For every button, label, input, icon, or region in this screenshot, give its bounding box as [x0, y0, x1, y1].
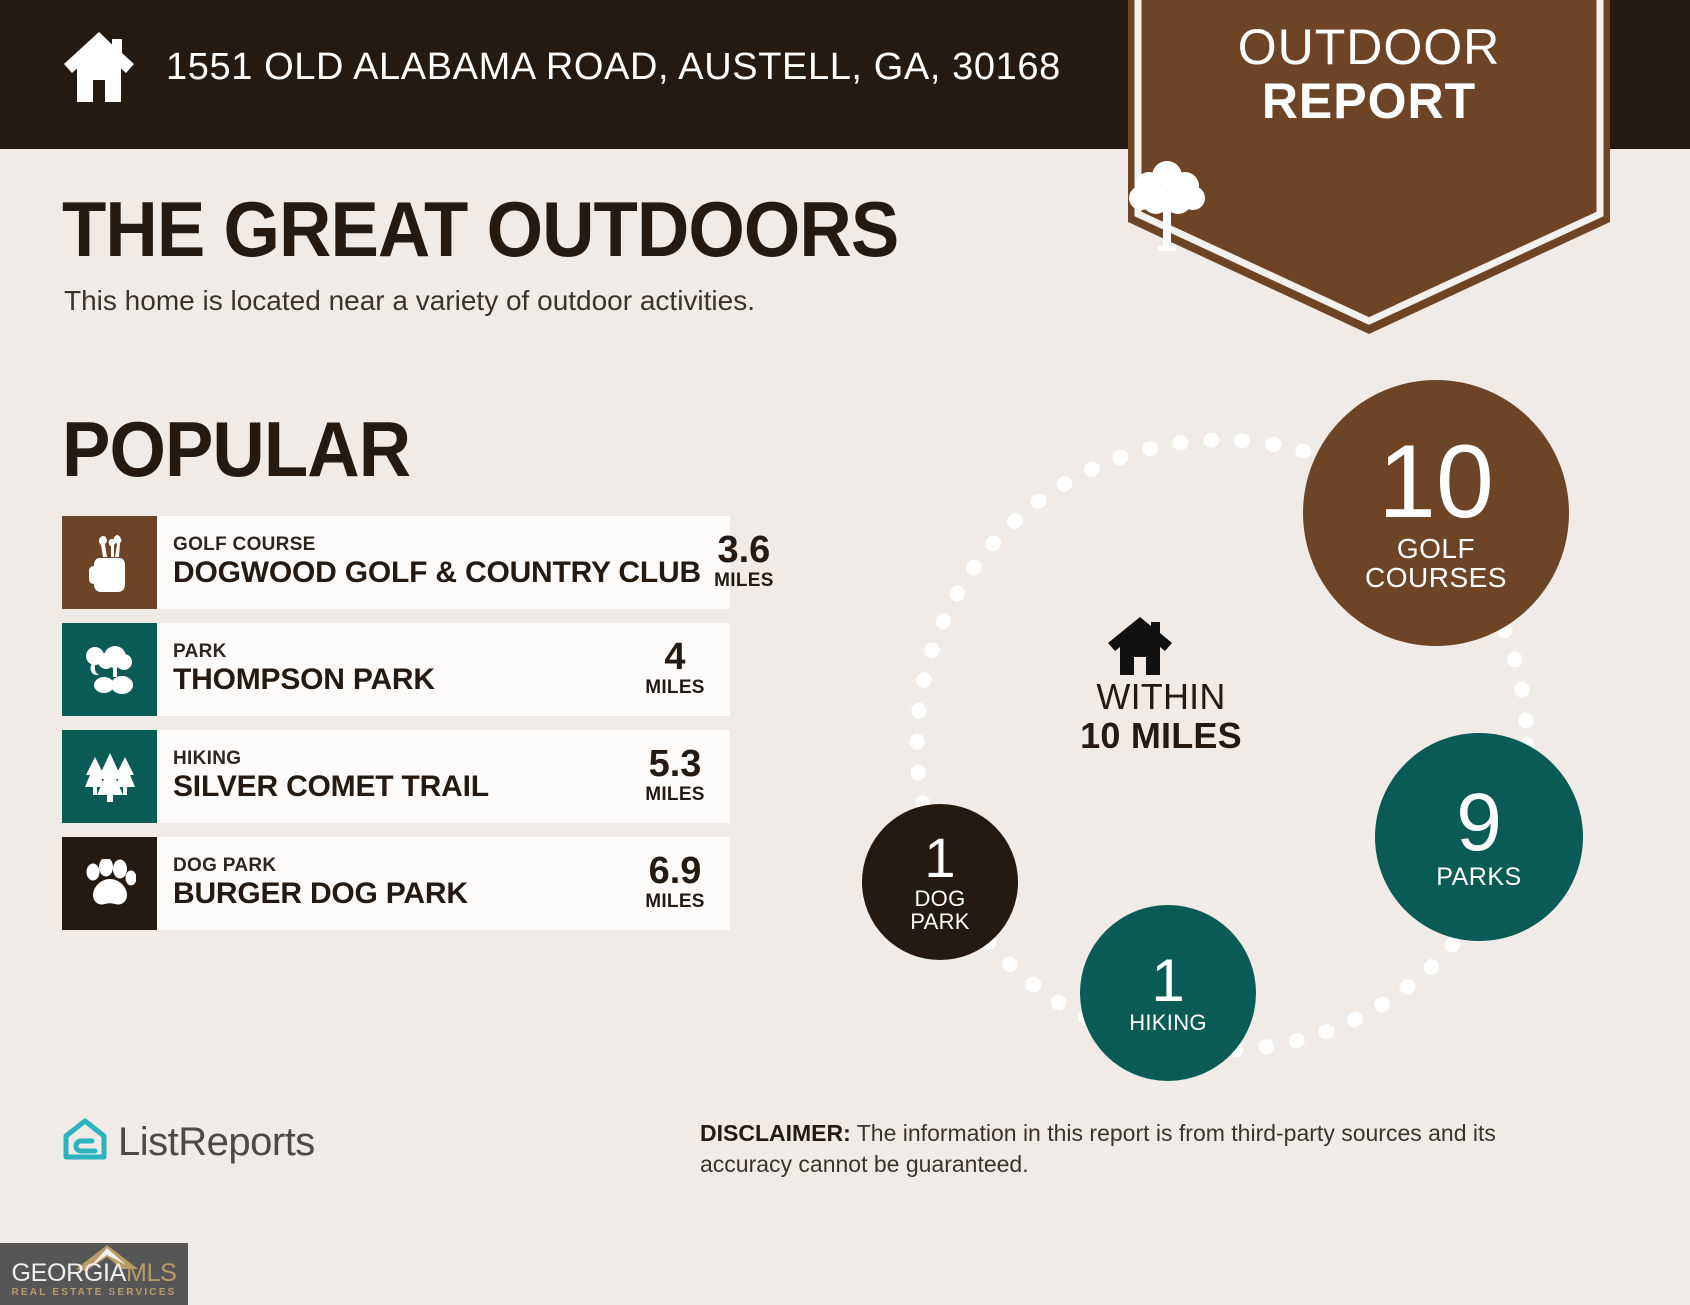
distance-value: 6.9	[649, 852, 702, 890]
distance-unit: MILES	[645, 676, 705, 701]
listreports-house-icon	[62, 1117, 108, 1166]
paw-print-icon	[62, 837, 157, 930]
golf-bag-icon	[62, 516, 157, 609]
list-item-name: BURGER DOG PARK	[173, 877, 468, 912]
distance-unit: MILES	[645, 783, 705, 808]
list-item-body: GOLF COURSE DOGWOOD GOLF & COUNTRY CLUB …	[157, 516, 799, 609]
disclaimer: DISCLAIMER: The information in this repo…	[700, 1118, 1530, 1180]
list-item-category: DOG PARK	[173, 855, 468, 877]
bubble-label-line-1: HIKING	[1129, 1011, 1207, 1034]
popular-list: GOLF COURSE DOGWOOD GOLF & COUNTRY CLUB …	[62, 516, 730, 930]
popular-heading: POPULAR	[62, 410, 410, 488]
list-item[interactable]: PARK THOMPSON PARK 4 MILES	[62, 623, 730, 716]
bubble-count: 1	[1151, 952, 1184, 1009]
property-address: 1551 OLD ALABAMA ROAD, AUSTELL, GA, 3016…	[166, 48, 1061, 86]
list-item[interactable]: HIKING SILVER COMET TRAIL 5.3 MILES	[62, 730, 730, 823]
mls-wordmark: GEORGIAMLS	[0, 1261, 188, 1286]
disclaimer-label: DISCLAIMER:	[700, 1120, 851, 1146]
page-title: THE GREAT OUTDOORS	[62, 190, 898, 268]
bubble-label-line-1: PARKS	[1436, 864, 1521, 890]
page-subtitle: This home is located near a variety of o…	[64, 283, 755, 319]
mls-tagline: REAL ESTATE SERVICES	[0, 1287, 188, 1298]
listreports-logo[interactable]: ListReports	[62, 1117, 315, 1166]
list-item-category: PARK	[173, 641, 435, 663]
within-label: WITHIN 10 MILES	[1066, 678, 1256, 756]
distance-value: 5.3	[649, 745, 702, 783]
list-item[interactable]: DOG PARK BURGER DOG PARK 6.9 MILES	[62, 837, 730, 930]
list-item-distance: 3.6 MILES	[701, 531, 793, 594]
list-item-body: DOG PARK BURGER DOG PARK 6.9 MILES	[157, 837, 730, 930]
list-item-name: DOGWOOD GOLF & COUNTRY CLUB	[173, 556, 701, 591]
list-item-distance: 4 MILES	[632, 638, 724, 701]
header-content: 1551 OLD ALABAMA ROAD, AUSTELL, GA, 3016…	[60, 30, 1061, 104]
outdoor-report-page: 1551 OLD ALABAMA ROAD, AUSTELL, GA, 3016…	[0, 0, 1690, 1305]
bubble-count: 10	[1378, 433, 1494, 532]
within-line-1: WITHIN	[1066, 678, 1256, 717]
bubble-label-line-1: GOLF	[1397, 534, 1475, 563]
list-item-texts: PARK THOMPSON PARK	[173, 641, 435, 697]
mls-name-part1: GEORGIA	[11, 1259, 126, 1287]
bubble-label-line-2: COURSES	[1365, 563, 1507, 592]
bubble-parks: 9 PARKS	[1375, 733, 1583, 941]
pine-trees-icon	[62, 730, 157, 823]
list-item-body: HIKING SILVER COMET TRAIL 5.3 MILES	[157, 730, 730, 823]
within-line-2: 10 MILES	[1066, 717, 1256, 756]
list-item[interactable]: GOLF COURSE DOGWOOD GOLF & COUNTRY CLUB …	[62, 516, 730, 609]
listreports-wordmark: ListReports	[118, 1122, 315, 1162]
house-icon	[60, 30, 138, 104]
within-10-miles-diagram: 10 GOLF COURSES 9 PARKS 1 DOG PARK 1 HIK…	[820, 350, 1640, 1080]
list-item-texts: GOLF COURSE DOGWOOD GOLF & COUNTRY CLUB	[173, 534, 701, 590]
list-item-name: THOMPSON PARK	[173, 663, 435, 698]
list-item-distance: 5.3 MILES	[632, 745, 724, 808]
list-item-texts: DOG PARK BURGER DOG PARK	[173, 855, 468, 911]
distance-value: 3.6	[717, 531, 770, 569]
list-item-name: SILVER COMET TRAIL	[173, 770, 489, 805]
distance-unit: MILES	[645, 890, 705, 915]
park-trees-icon	[62, 623, 157, 716]
bubble-label-line-2: PARK	[910, 910, 969, 933]
distance-value: 4	[664, 638, 685, 676]
bubble-count: 1	[924, 831, 955, 884]
list-item-distance: 6.9 MILES	[632, 852, 724, 915]
georgia-mls-badge: GEORGIAMLS REAL ESTATE SERVICES	[0, 1243, 188, 1305]
mls-name-part2: MLS	[126, 1259, 177, 1287]
list-item-texts: HIKING SILVER COMET TRAIL	[173, 748, 489, 804]
bubble-hiking: 1 HIKING	[1080, 905, 1256, 1081]
bubble-count: 9	[1456, 784, 1502, 862]
outdoor-report-banner: OUTDOOR REPORT	[1128, 0, 1610, 334]
list-item-category: HIKING	[173, 748, 489, 770]
bubble-dog-park: 1 DOG PARK	[862, 804, 1018, 960]
bubble-label-line-1: DOG	[914, 887, 965, 910]
list-item-body: PARK THOMPSON PARK 4 MILES	[157, 623, 730, 716]
list-item-category: GOLF COURSE	[173, 534, 701, 556]
bubble-golf-courses: 10 GOLF COURSES	[1303, 380, 1569, 646]
distance-unit: MILES	[714, 569, 774, 594]
